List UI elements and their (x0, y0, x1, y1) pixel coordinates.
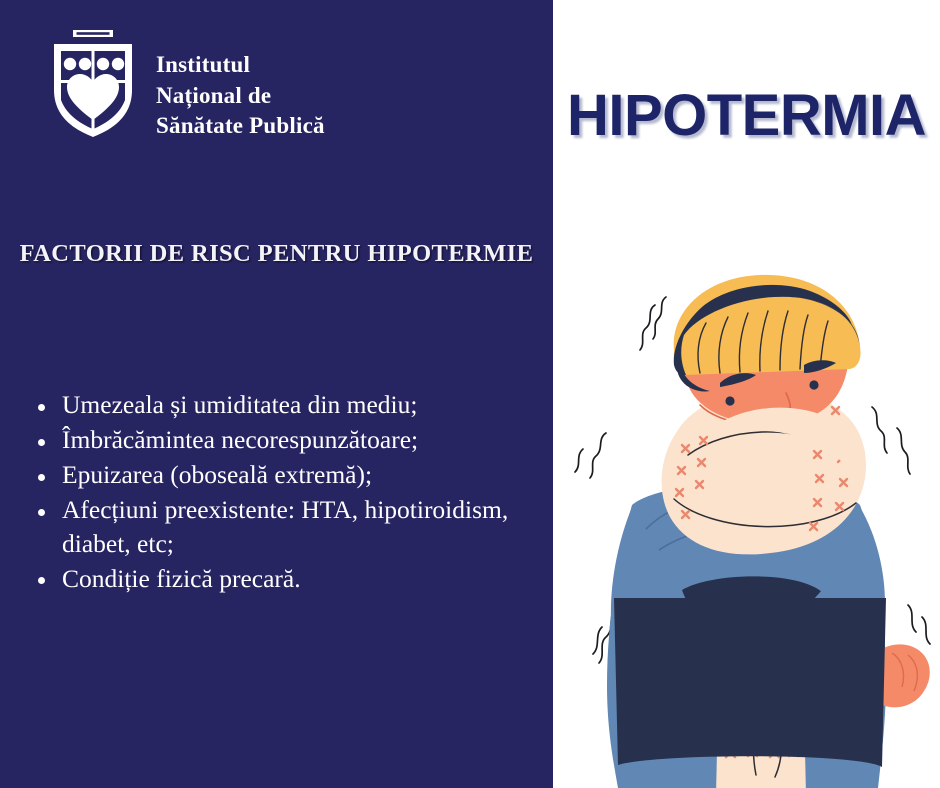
shivering-person-illustration (560, 255, 940, 788)
page-title: HIPOTERMIA (553, 82, 940, 149)
list-item: Epuizarea (oboseală extremă); (30, 458, 530, 492)
list-item: Umezeala și umiditatea din mediu; (30, 388, 530, 422)
list-item-label: Condiție fizică precară. (62, 564, 301, 593)
shield-heart-logo-icon (50, 28, 136, 140)
list-item-label: Afecțiuni preexistente: HTA, hipotiroidi… (62, 495, 508, 558)
list-item-label: Umezeala și umiditatea din mediu; (62, 390, 417, 419)
bullet-icon (38, 439, 45, 446)
poster-root: Institutul Național de Sănătate Publică … (0, 0, 940, 788)
section-heading: FACTORII DE RISC PENTRU HIPOTERMIE (0, 240, 553, 268)
list-item: Afecțiuni preexistente: HTA, hipotiroidi… (30, 493, 530, 561)
organization-name: Institutul Național de Sănătate Publică (156, 28, 325, 142)
bullet-icon (38, 404, 45, 411)
list-item-label: Epuizarea (oboseală extremă); (62, 460, 372, 489)
list-item: Condiție fizică precară. (30, 562, 530, 596)
list-item-label: Îmbrăcămintea necorespunzătoare; (62, 425, 418, 454)
risk-factor-list: Umezeala și umiditatea din mediu; Îmbrăc… (30, 388, 530, 596)
bullet-icon (38, 474, 45, 481)
list-item: Îmbrăcămintea necorespunzătoare; (30, 423, 530, 457)
bullet-icon (38, 509, 45, 516)
brand-logo-block: Institutul Național de Sănătate Publică (50, 28, 325, 142)
bullet-icon (38, 577, 45, 584)
